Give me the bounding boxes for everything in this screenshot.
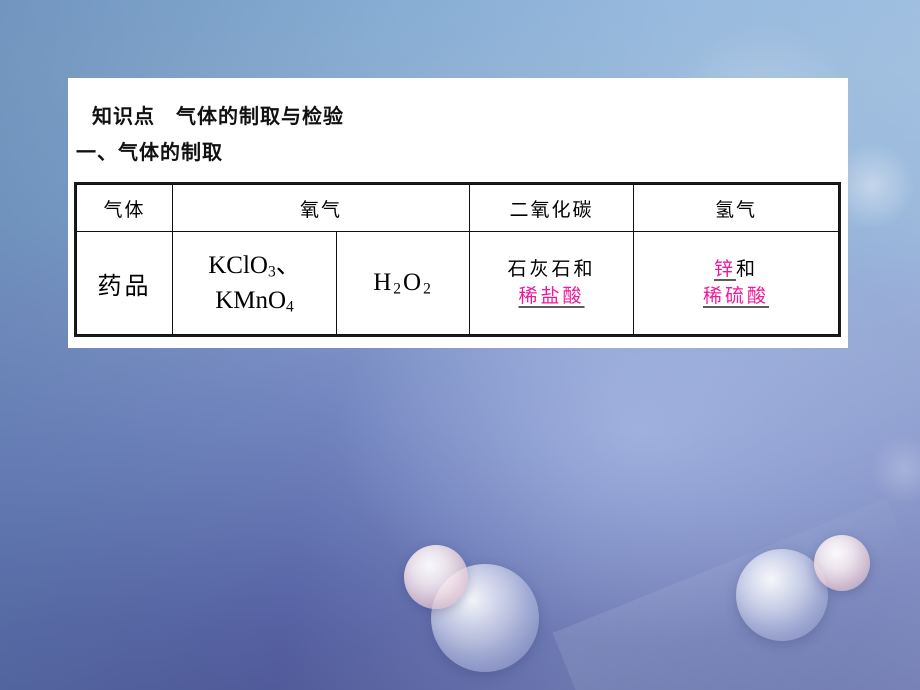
body-cell-h2-reagent: 锌和 稀硫酸 <box>634 232 839 335</box>
sphere-icon-small-right <box>814 535 870 591</box>
header-cell-oxygen: 氧气 <box>173 185 470 232</box>
h2-reagent-highlight-acid: 稀硫酸 <box>634 283 838 310</box>
light-streak-decoration <box>553 498 920 690</box>
sphere-icon-large-left <box>431 564 539 672</box>
formula-h2o2-sub-o: 2 <box>423 280 433 297</box>
body-cell-oxygen-reagent-liquid: H2O2 <box>337 232 470 335</box>
header-cell-hydrogen: 氢气 <box>634 185 839 232</box>
gas-preparation-table: 气体 氧气 二氧化碳 氢气 药品 KClO3、 KMnO4 H2O2 <box>76 184 839 335</box>
body-cell-co2-reagent: 石灰石和 稀盐酸 <box>470 232 634 335</box>
formula-kclo3-base: KClO <box>208 252 268 279</box>
formula-kmno4-subscript: 4 <box>286 298 294 315</box>
page-title: 知识点 气体的制取与检验 <box>92 100 344 129</box>
formula-h2o2-sub-h: 2 <box>393 280 403 297</box>
formula-kmno4: KMnO4 <box>173 283 336 319</box>
formula-h2o2: H2O2 <box>373 269 433 296</box>
formula-h2o2-h: H <box>373 269 393 296</box>
h2-reagent-line1: 锌和 <box>634 256 838 283</box>
body-cell-oxygen-reagent-solid: KClO3、 KMnO4 <box>173 232 337 335</box>
sphere-icon-small-left <box>404 545 468 609</box>
content-panel: 知识点 气体的制取与检验 一、气体的制取 气体 氧气 二氧化碳 氢气 药品 <box>68 78 848 348</box>
formula-separator: 、 <box>276 252 301 279</box>
h2-reagent-conjunction: 和 <box>736 258 758 280</box>
table-row: 药品 KClO3、 KMnO4 H2O2 石灰石和 稀盐酸 锌和 稀硫 <box>77 232 839 335</box>
section-subtitle: 一、气体的制取 <box>76 136 223 165</box>
table-header-row: 气体 氧气 二氧化碳 氢气 <box>77 185 839 232</box>
formula-kclo3-subscript: 3 <box>268 263 276 280</box>
header-cell-carbon-dioxide: 二氧化碳 <box>470 185 634 232</box>
co2-reagent-highlight: 稀盐酸 <box>470 283 633 310</box>
h2-reagent-highlight-metal: 锌 <box>714 258 736 280</box>
formula-kmno4-base: KMnO <box>215 287 286 314</box>
formula-kclo3: KClO3、 <box>173 248 336 284</box>
body-cell-row-label: 药品 <box>77 232 173 335</box>
co2-reagent-text: 石灰石和 <box>470 256 633 283</box>
header-cell-row-label: 气体 <box>77 185 173 232</box>
formula-h2o2-o: O <box>403 269 423 296</box>
sphere-icon-large-right <box>736 549 828 641</box>
slide-canvas: 知识点 气体的制取与检验 一、气体的制取 气体 氧气 二氧化碳 氢气 药品 <box>0 0 920 690</box>
